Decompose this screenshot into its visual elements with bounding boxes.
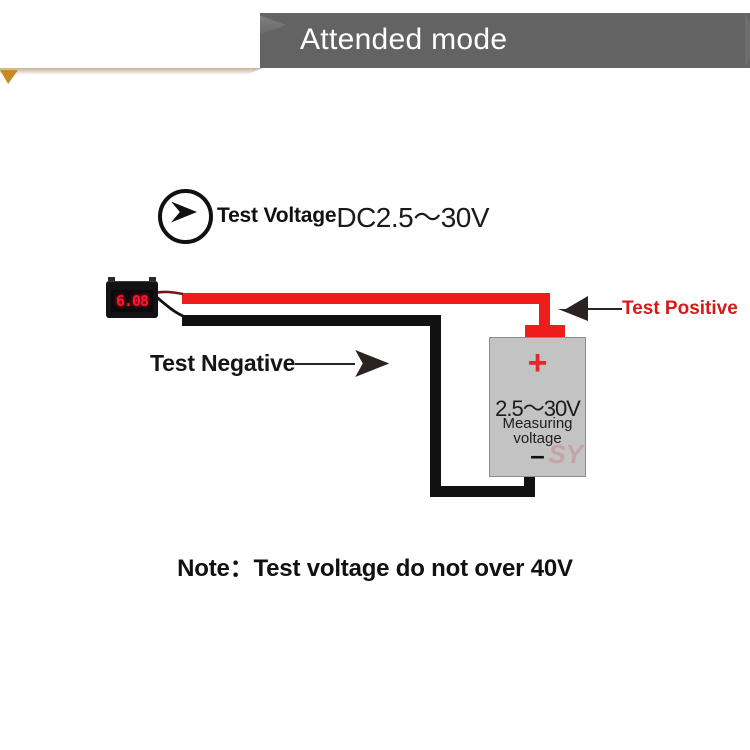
test-negative-label: Test Negative	[150, 350, 295, 377]
arrow-right-icon	[355, 350, 389, 377]
page-title: Attended mode	[300, 23, 507, 57]
header-chevron-decoration	[745, 13, 750, 68]
test-voltage-range-value: DC2.5～30V	[336, 196, 489, 236]
header-orange-arrow-shape	[0, 10, 286, 72]
circle-arrow-right-icon	[158, 189, 213, 244]
negative-wire-horizontal-top	[182, 315, 441, 326]
header-orange-shadow	[0, 68, 274, 75]
test-positive-label: Test Positive	[622, 298, 738, 320]
voltmeter-screen: 6.08	[111, 290, 153, 312]
leader-line	[588, 308, 622, 310]
note-text: Note：Test voltage do not over 40V	[0, 548, 750, 583]
negative-wire-vertical	[430, 315, 441, 497]
battery-under-test: + 2.5～30V Measuring voltage – SY	[489, 337, 586, 477]
battery-caption-line1: Measuring	[490, 416, 585, 431]
voltmeter-body: 6.08	[106, 281, 158, 318]
arrow-left-icon	[558, 296, 588, 321]
test-voltage-row: Test Voltage DC2.5～30V	[158, 188, 489, 244]
test-positive-annotation: Test Positive	[558, 296, 738, 321]
digital-voltmeter[interactable]: 6.08	[106, 277, 158, 318]
leader-line	[295, 363, 355, 365]
voltmeter-reading: 6.08	[116, 292, 148, 310]
header-orange-tail	[0, 70, 18, 84]
negative-wire-horizontal-bottom	[430, 486, 535, 497]
test-negative-annotation: Test Negative	[150, 350, 389, 377]
positive-wire-horizontal	[182, 293, 550, 304]
battery-plus-symbol: +	[490, 346, 585, 380]
battery-minus-symbol: –	[490, 442, 585, 468]
header-banner: Attended mode	[0, 10, 750, 70]
arrow-right-glyph	[171, 202, 197, 223]
test-voltage-label: Test Voltage	[217, 204, 336, 228]
